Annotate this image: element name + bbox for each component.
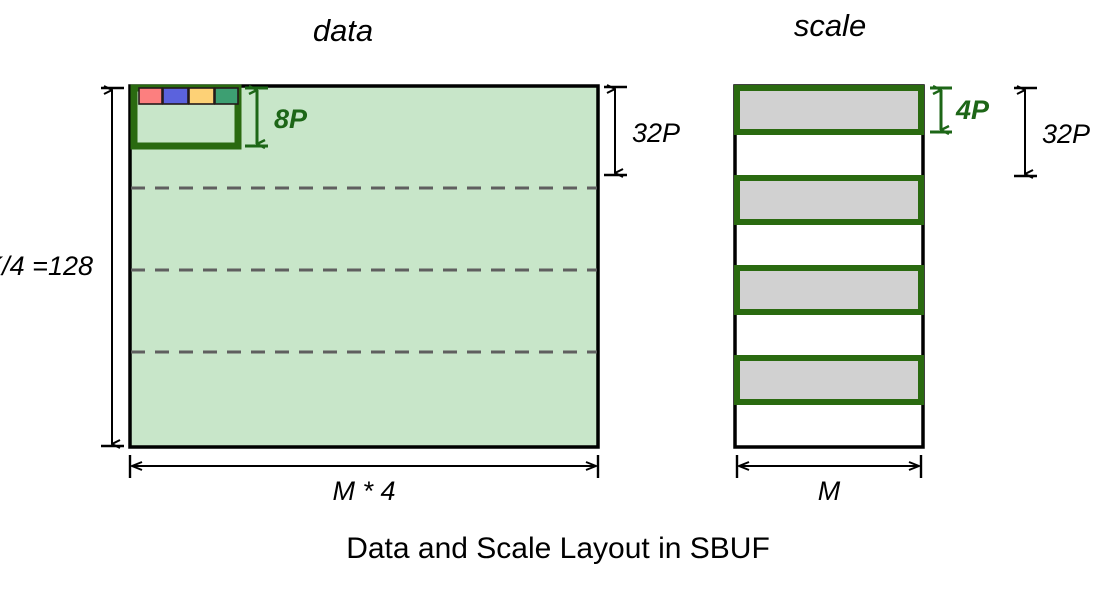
data-8p-label: 8P — [274, 104, 308, 134]
tile-green — [215, 88, 238, 104]
scale-band-3 — [737, 268, 921, 312]
panel-title-data: data — [313, 13, 373, 48]
panel-title-scale: scale — [794, 8, 866, 43]
scale-band-4 — [737, 358, 921, 402]
scale-band-2 — [737, 178, 921, 222]
tile-red — [139, 88, 162, 104]
scale-4p-label: 4P — [955, 95, 990, 125]
data-block — [130, 86, 598, 447]
tile-blue — [163, 88, 188, 104]
tile-yellow — [189, 88, 214, 104]
figure-canvas: data scale 8P 32P K/4 =128 — [0, 0, 1116, 610]
scale-band-1 — [737, 88, 921, 132]
scale-32p-label: 32P — [1042, 119, 1090, 149]
scale-width-label: M — [818, 476, 841, 506]
data-width-label: M * 4 — [332, 476, 395, 506]
diagram-svg: data scale 8P 32P K/4 =128 — [0, 0, 1116, 610]
figure-caption: Data and Scale Layout in SBUF — [346, 532, 770, 565]
data-height-label: K/4 =128 — [0, 251, 93, 281]
data-32p-label: 32P — [632, 118, 680, 148]
